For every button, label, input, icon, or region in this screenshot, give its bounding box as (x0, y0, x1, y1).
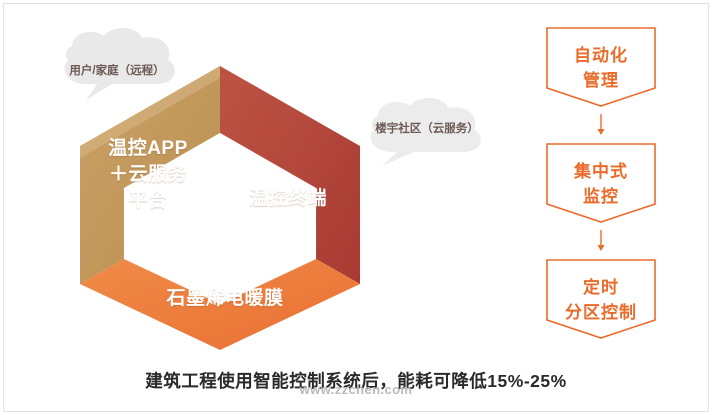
feature-box-scheduled[interactable]: 定时 分区控制 (545, 258, 657, 340)
feature-box-scheduled-label: 定时 分区控制 (545, 276, 657, 325)
speech-bubble-community-text: 楼宇社区（云服务） (356, 120, 498, 136)
right-feature-column: 自动化 管理 集中式 监控 定时 分区控制 (545, 26, 657, 351)
feature-box-centralized-label: 集中式 监控 (545, 160, 657, 209)
feature-box-automation-label: 自动化 管理 (545, 44, 657, 93)
speech-bubble-user-home-text: 用户/家庭（远程） (46, 62, 188, 78)
hexagon-label-app-cloud: 温控APP ＋云服务 平台 (88, 136, 208, 215)
hexagon-label-film: 石墨烯电暖膜 (145, 286, 305, 312)
watermark-text: www.zzchen.com (0, 382, 712, 397)
arrow-down-icon-1 (597, 114, 605, 136)
hexagon-segment-terminal[interactable] (220, 66, 360, 284)
arrow-down-icon-2 (597, 230, 605, 252)
hexagon-label-terminal: 温控终端 (228, 186, 348, 212)
feature-box-centralized[interactable]: 集中式 监控 (545, 142, 657, 224)
diagram-canvas: 温控APP ＋云服务 平台 温控终端 石墨烯电暖膜 用户/家庭（远程） 楼宇社区… (0, 0, 712, 415)
feature-box-automation[interactable]: 自动化 管理 (545, 26, 657, 108)
